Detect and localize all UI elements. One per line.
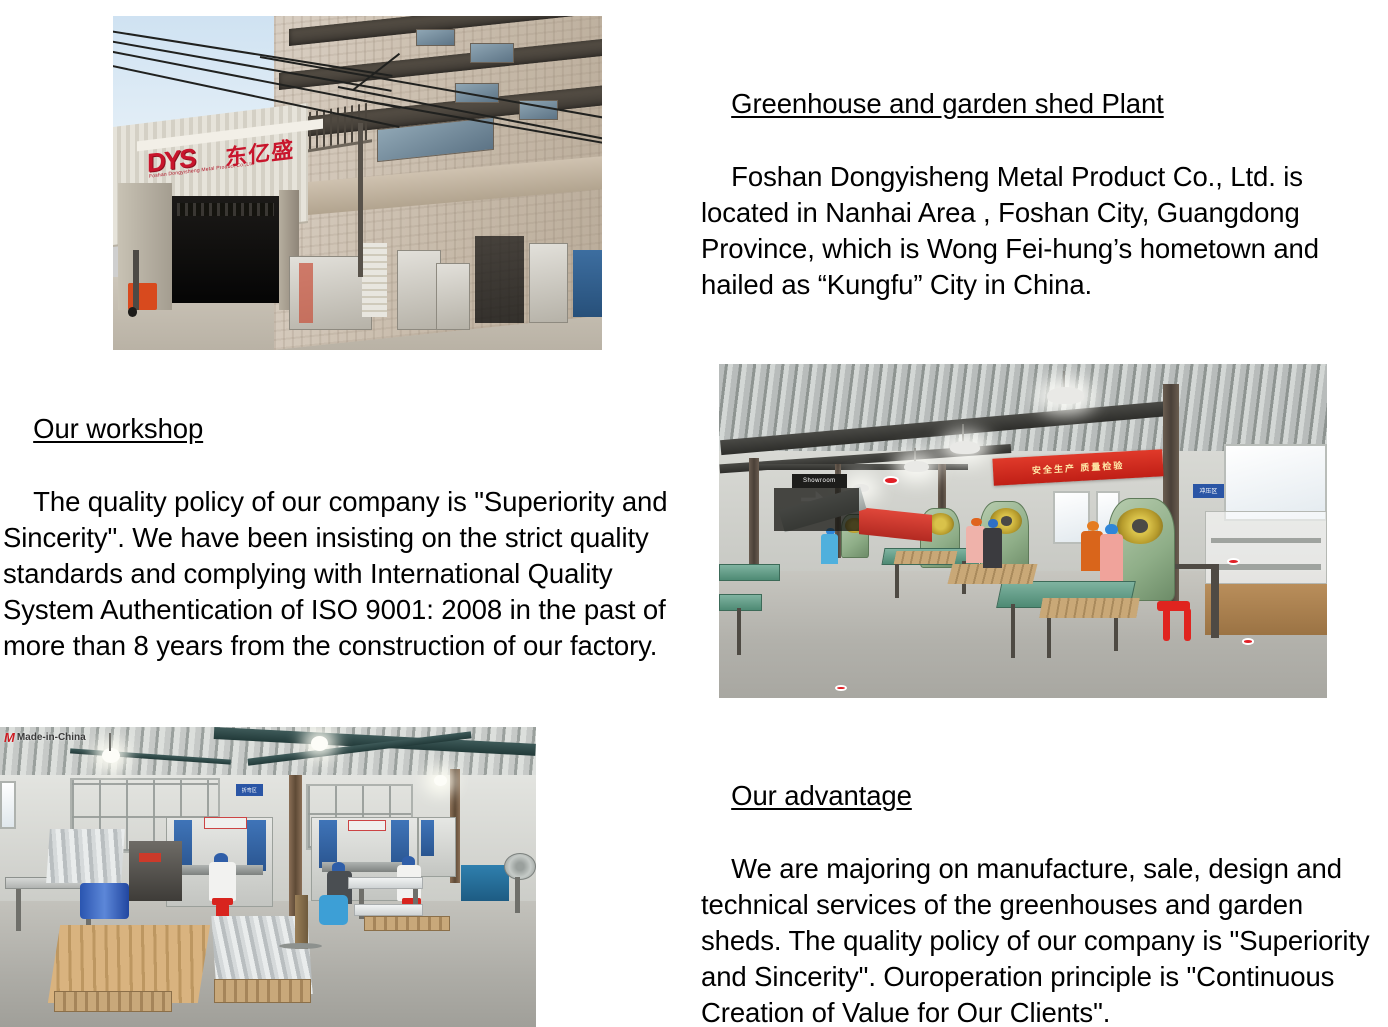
bench-mid-leg-1 <box>895 561 899 598</box>
heading-our-workshop: Our workshop <box>33 411 203 447</box>
press-brake-1-side-right <box>247 820 266 871</box>
worker-shirt-1 <box>209 862 236 901</box>
pedestal-fan <box>504 853 536 880</box>
safety-dot-2 <box>1227 558 1240 565</box>
post-base <box>279 943 322 949</box>
ceiling-lamp-3 <box>904 461 928 472</box>
window-far-left <box>0 781 16 829</box>
area-sign-bending: 折弯区 <box>236 784 263 796</box>
ceiling-lamp-1 <box>1047 387 1083 404</box>
showroom-sign: Showroom <box>792 474 847 487</box>
area-sign-stamping: 冲压区 <box>1193 484 1223 497</box>
photo-press-brake-shop: 折弯区 <box>0 727 536 1027</box>
ceiling-lamp-2 <box>950 441 980 454</box>
worker-stool-blue <box>319 895 348 925</box>
safety-dot-3 <box>1242 638 1254 645</box>
worker-body-cyan <box>821 534 838 564</box>
press-brake-2-label <box>348 820 386 831</box>
shelf-divider-1 <box>1211 538 1320 543</box>
slide-canvas: DYS 东亿盛 Foshan Dongyisheng Metal Product… <box>0 0 1388 1027</box>
worker-helmet-orange-1 <box>1087 521 1099 531</box>
body-intro: Foshan Dongyisheng Metal Product Co., Lt… <box>701 161 1327 301</box>
ceiling-lamp-2 <box>311 736 328 751</box>
pallet-metal-pile <box>214 979 310 1003</box>
text-block-intro: Greenhouse and garden shed Plant Foshan … <box>701 50 1381 340</box>
red-stool-leg-1 <box>1163 608 1170 641</box>
wall-posters <box>362 243 386 316</box>
safety-dot-1 <box>883 476 899 485</box>
steel-column-left <box>749 458 759 578</box>
press-brake-3-side <box>421 820 434 856</box>
machine-red-handle <box>139 853 160 862</box>
body-workshop: The quality policy of our company is "Su… <box>3 486 675 662</box>
metal-sheet-lower <box>354 904 424 916</box>
machine-dark-left <box>129 841 183 901</box>
window-upper-2 <box>470 43 514 63</box>
fan-stand <box>515 877 520 913</box>
press-hub-2 <box>1001 516 1013 525</box>
factory-scene: DYS 东亿盛 Foshan Dongyisheng Metal Product… <box>113 16 602 350</box>
roller-shutter-2 <box>436 263 470 330</box>
guard-rail-post <box>1211 564 1218 637</box>
sheet-stack-left <box>46 829 125 883</box>
ceiling-lamp-1 <box>102 748 120 763</box>
worker-body-dark <box>983 528 1001 568</box>
made-in-china-watermark: M Made-in-China <box>4 731 86 744</box>
shelf-divider-2 <box>1211 564 1320 569</box>
heading-our-advantage: Our advantage <box>731 778 912 814</box>
bench-leg-1 <box>1011 604 1015 657</box>
pallet-parts-2 <box>894 551 958 564</box>
rack-leg-1 <box>16 889 21 931</box>
window-upper-1 <box>416 29 455 46</box>
heading-greenhouse-plant: Greenhouse and garden shed Plant <box>731 86 1164 122</box>
press-scene: 折弯区 <box>0 727 536 1027</box>
far-dark-area <box>774 488 859 531</box>
doorway-right <box>475 236 524 323</box>
roof-beam-third <box>749 464 968 470</box>
right-window <box>1224 444 1327 521</box>
press-brake-2-side-left <box>319 820 337 868</box>
roller-shutter-1 <box>397 250 441 330</box>
press-hub-1 <box>1132 519 1148 532</box>
lamp-rod-1 <box>109 733 110 751</box>
forklift-wheel <box>128 307 138 317</box>
post-center <box>295 895 308 949</box>
forklift-mast <box>133 250 140 310</box>
text-block-workshop: Our workshop The quality policy of our c… <box>3 375 703 701</box>
pallet-wood-pile <box>54 991 172 1012</box>
workbench-left-1 <box>719 564 780 581</box>
text-block-advantage: Our advantage We are majoring on manufac… <box>701 742 1381 1027</box>
entrance-ceiling <box>177 203 275 216</box>
watermark-label: Made-in-China <box>17 732 86 743</box>
blue-cabinet-right <box>461 865 509 901</box>
worker-body-pink-2 <box>966 526 985 563</box>
pallet-right <box>364 916 450 931</box>
ceiling-lamp-3 <box>434 775 447 786</box>
press-brake-1-label <box>204 817 247 829</box>
plywood-panel <box>1205 584 1327 634</box>
photo-workshop-interior: Showroom 安全生产 质量检验 冲压区 <box>719 364 1327 698</box>
workshop-scene: Showroom 安全生产 质量检验 冲压区 <box>719 364 1327 698</box>
worker-helmet-orange-2 <box>971 518 981 527</box>
bench-left-leg <box>737 608 741 655</box>
pallet-parts-3 <box>1039 598 1140 618</box>
metal-sheet-on-table <box>348 877 423 889</box>
worker-body-pink-1 <box>1100 534 1123 581</box>
blue-door <box>573 250 602 317</box>
display-shelf <box>1205 511 1327 584</box>
safety-dot-4 <box>835 685 847 692</box>
red-stool-leg-2 <box>1184 608 1191 641</box>
roller-shutter-3 <box>529 243 568 323</box>
utility-pole <box>358 123 363 277</box>
worker-helmet-blue-2 <box>988 519 998 527</box>
photo-factory-building: DYS 东亿盛 Foshan Dongyisheng Metal Product… <box>113 16 602 350</box>
cabinet-red-label <box>299 263 314 323</box>
blue-barrel <box>80 883 128 919</box>
watermark-m-icon: M <box>4 731 15 744</box>
body-advantage: We are majoring on manufacture, sale, de… <box>701 853 1377 1027</box>
